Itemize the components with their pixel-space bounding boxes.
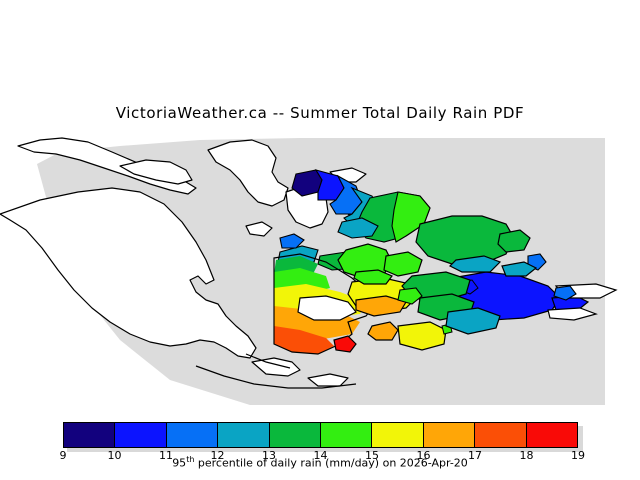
page-title: VictoriaWeather.ca -- Summer Total Daily… [0, 104, 640, 122]
map-svg [0, 130, 640, 405]
colorbar-band-14-15 [321, 423, 372, 447]
colorbar-caption: 95th percentile of daily rain (mm/day) o… [0, 455, 640, 470]
map-panel [0, 130, 640, 405]
colorbar-band-11-12 [167, 423, 218, 447]
colorbar-band-18-19 [527, 423, 577, 447]
colorbar-band-13-14 [270, 423, 321, 447]
colorbar-band-17-18 [475, 423, 526, 447]
colorbar-band-16-17 [424, 423, 475, 447]
colorbar-bands [63, 422, 578, 448]
colorbar: 910111213141516171819 [0, 418, 640, 480]
colorbar-band-9-10 [64, 423, 115, 447]
small-island-yellow [398, 322, 446, 350]
colorbar-band-15-16 [372, 423, 423, 447]
colorbar-band-10-11 [115, 423, 166, 447]
colorbar-band-12-13 [218, 423, 269, 447]
caption-rest: percentile of daily rain (mm/day) on 202… [194, 457, 467, 470]
caption-prefix: 95 [172, 457, 186, 470]
